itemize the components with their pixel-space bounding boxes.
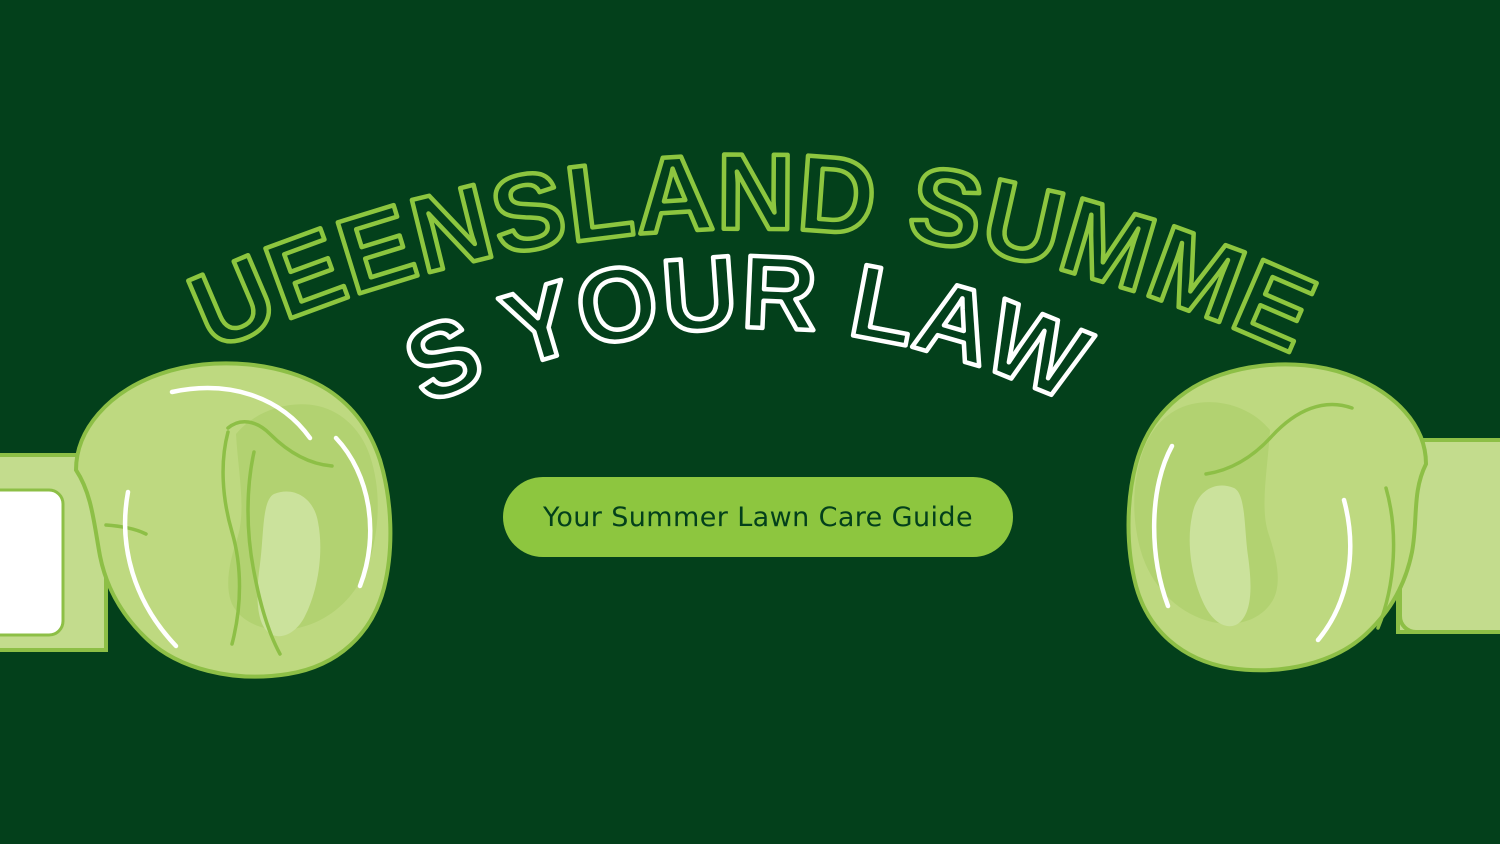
cta-label: Your Summer Lawn Care Guide [543,502,973,533]
boxing-glove-left [0,0,458,844]
boxing-glove-right [1078,0,1500,844]
glove-left-group [0,363,390,676]
summer-lawn-care-guide-button[interactable]: Your Summer Lawn Care Guide [503,477,1013,557]
glove-right-group [1129,364,1500,670]
glove-left-wrist-label [0,490,63,635]
poster-canvas: QUEENSLAND SUMMER VS YOUR LAWN Your Summ… [0,0,1500,844]
